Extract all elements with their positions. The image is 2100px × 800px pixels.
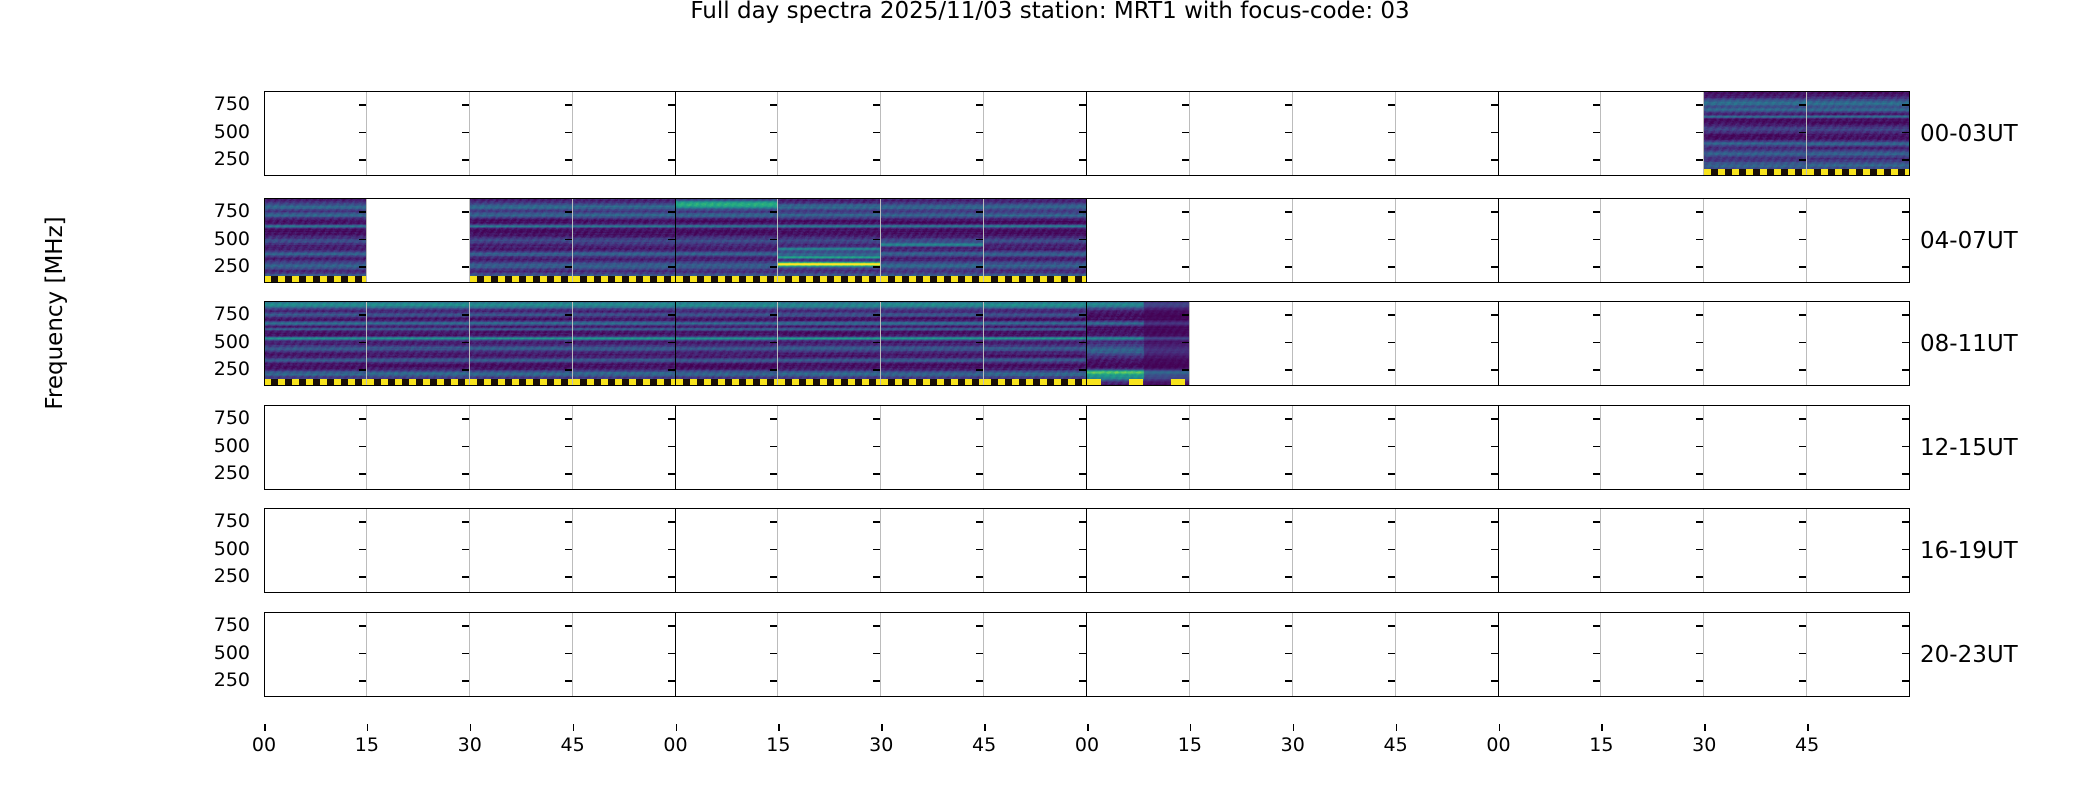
- x-tick-label: 15: [766, 734, 790, 756]
- row-frame: [264, 301, 1910, 386]
- y-tick-label: 250: [214, 148, 250, 170]
- y-tick-label: 500: [214, 538, 250, 560]
- y-tick-labels: 250500750: [190, 508, 250, 593]
- row-label-04-07ut: 04-07UT: [1920, 228, 2018, 254]
- x-tick-label: 00: [1075, 734, 1099, 756]
- y-tick-label: 750: [214, 614, 250, 636]
- figure-title: Full day spectra 2025/11/03 station: MRT…: [0, 0, 2100, 23]
- y-tick-label: 250: [214, 565, 250, 587]
- y-tick-label: 750: [214, 407, 250, 429]
- x-tick-mark: [676, 724, 678, 731]
- y-tick-labels: 250500750: [190, 405, 250, 490]
- y-tick-labels: 250500750: [190, 301, 250, 386]
- x-tick-label: 45: [1384, 734, 1408, 756]
- y-tick-label: 500: [214, 642, 250, 664]
- x-tick-label: 15: [1589, 734, 1613, 756]
- x-tick-label: 45: [561, 734, 585, 756]
- y-axis-label: Frequency [MHz]: [42, 163, 68, 463]
- spectrogram-row: [264, 508, 1910, 593]
- x-tick-mark: [881, 724, 883, 731]
- y-tick-label: 750: [214, 303, 250, 325]
- row-frame: [264, 91, 1910, 176]
- x-tick-label: 00: [663, 734, 687, 756]
- x-tick-mark: [1704, 724, 1706, 731]
- spectrogram-row: [264, 301, 1910, 386]
- x-tick-label: 00: [1486, 734, 1510, 756]
- y-tick-label: 750: [214, 93, 250, 115]
- x-tick-label: 30: [458, 734, 482, 756]
- y-tick-label: 750: [214, 200, 250, 222]
- x-tick-mark: [264, 724, 266, 731]
- spectrogram-row: [264, 405, 1910, 490]
- y-tick-label: 250: [214, 255, 250, 277]
- row-label-12-15ut: 12-15UT: [1920, 435, 2018, 461]
- x-tick-label: 00: [252, 734, 276, 756]
- x-tick-mark: [1396, 724, 1398, 731]
- x-tick-mark: [1601, 724, 1603, 731]
- y-tick-label: 250: [214, 358, 250, 380]
- y-tick-label: 250: [214, 462, 250, 484]
- spectrogram-row: [264, 198, 1910, 283]
- row-label-20-23ut: 20-23UT: [1920, 642, 2018, 668]
- row-label-08-11ut: 08-11UT: [1920, 331, 2018, 357]
- row-frame: [264, 612, 1910, 697]
- x-tick-mark: [1807, 724, 1809, 731]
- x-tick-label: 15: [355, 734, 379, 756]
- spectrogram-row: [264, 612, 1910, 697]
- y-tick-label: 250: [214, 669, 250, 691]
- x-tick-mark: [1499, 724, 1501, 731]
- x-tick-mark: [470, 724, 472, 731]
- y-tick-labels: 250500750: [190, 91, 250, 176]
- x-tick-label: 30: [1692, 734, 1716, 756]
- y-tick-label: 500: [214, 435, 250, 457]
- y-tick-label: 750: [214, 510, 250, 532]
- x-tick-mark: [984, 724, 986, 731]
- x-tick-label: 45: [972, 734, 996, 756]
- x-tick-mark: [367, 724, 369, 731]
- row-frame: [264, 508, 1910, 593]
- y-tick-labels: 250500750: [190, 612, 250, 697]
- row-frame: [264, 405, 1910, 490]
- x-tick-label: 30: [869, 734, 893, 756]
- x-tick-label: 15: [1178, 734, 1202, 756]
- row-frame: [264, 198, 1910, 283]
- y-tick-label: 500: [214, 121, 250, 143]
- x-tick-mark: [1293, 724, 1295, 731]
- row-label-16-19ut: 16-19UT: [1920, 538, 2018, 564]
- y-tick-label: 500: [214, 228, 250, 250]
- x-tick-mark: [573, 724, 575, 731]
- y-tick-labels: 250500750: [190, 198, 250, 283]
- spectrogram-row: [264, 91, 1910, 176]
- figure-canvas: Full day spectra 2025/11/03 station: MRT…: [0, 0, 2100, 800]
- x-tick-mark: [778, 724, 780, 731]
- y-tick-label: 500: [214, 331, 250, 353]
- x-tick-mark: [1190, 724, 1192, 731]
- x-tick-label: 45: [1795, 734, 1819, 756]
- row-label-00-03ut: 00-03UT: [1920, 121, 2018, 147]
- x-tick-label: 30: [1281, 734, 1305, 756]
- x-tick-mark: [1087, 724, 1089, 731]
- x-axis: 00153045001530450015304500153045: [264, 724, 1910, 764]
